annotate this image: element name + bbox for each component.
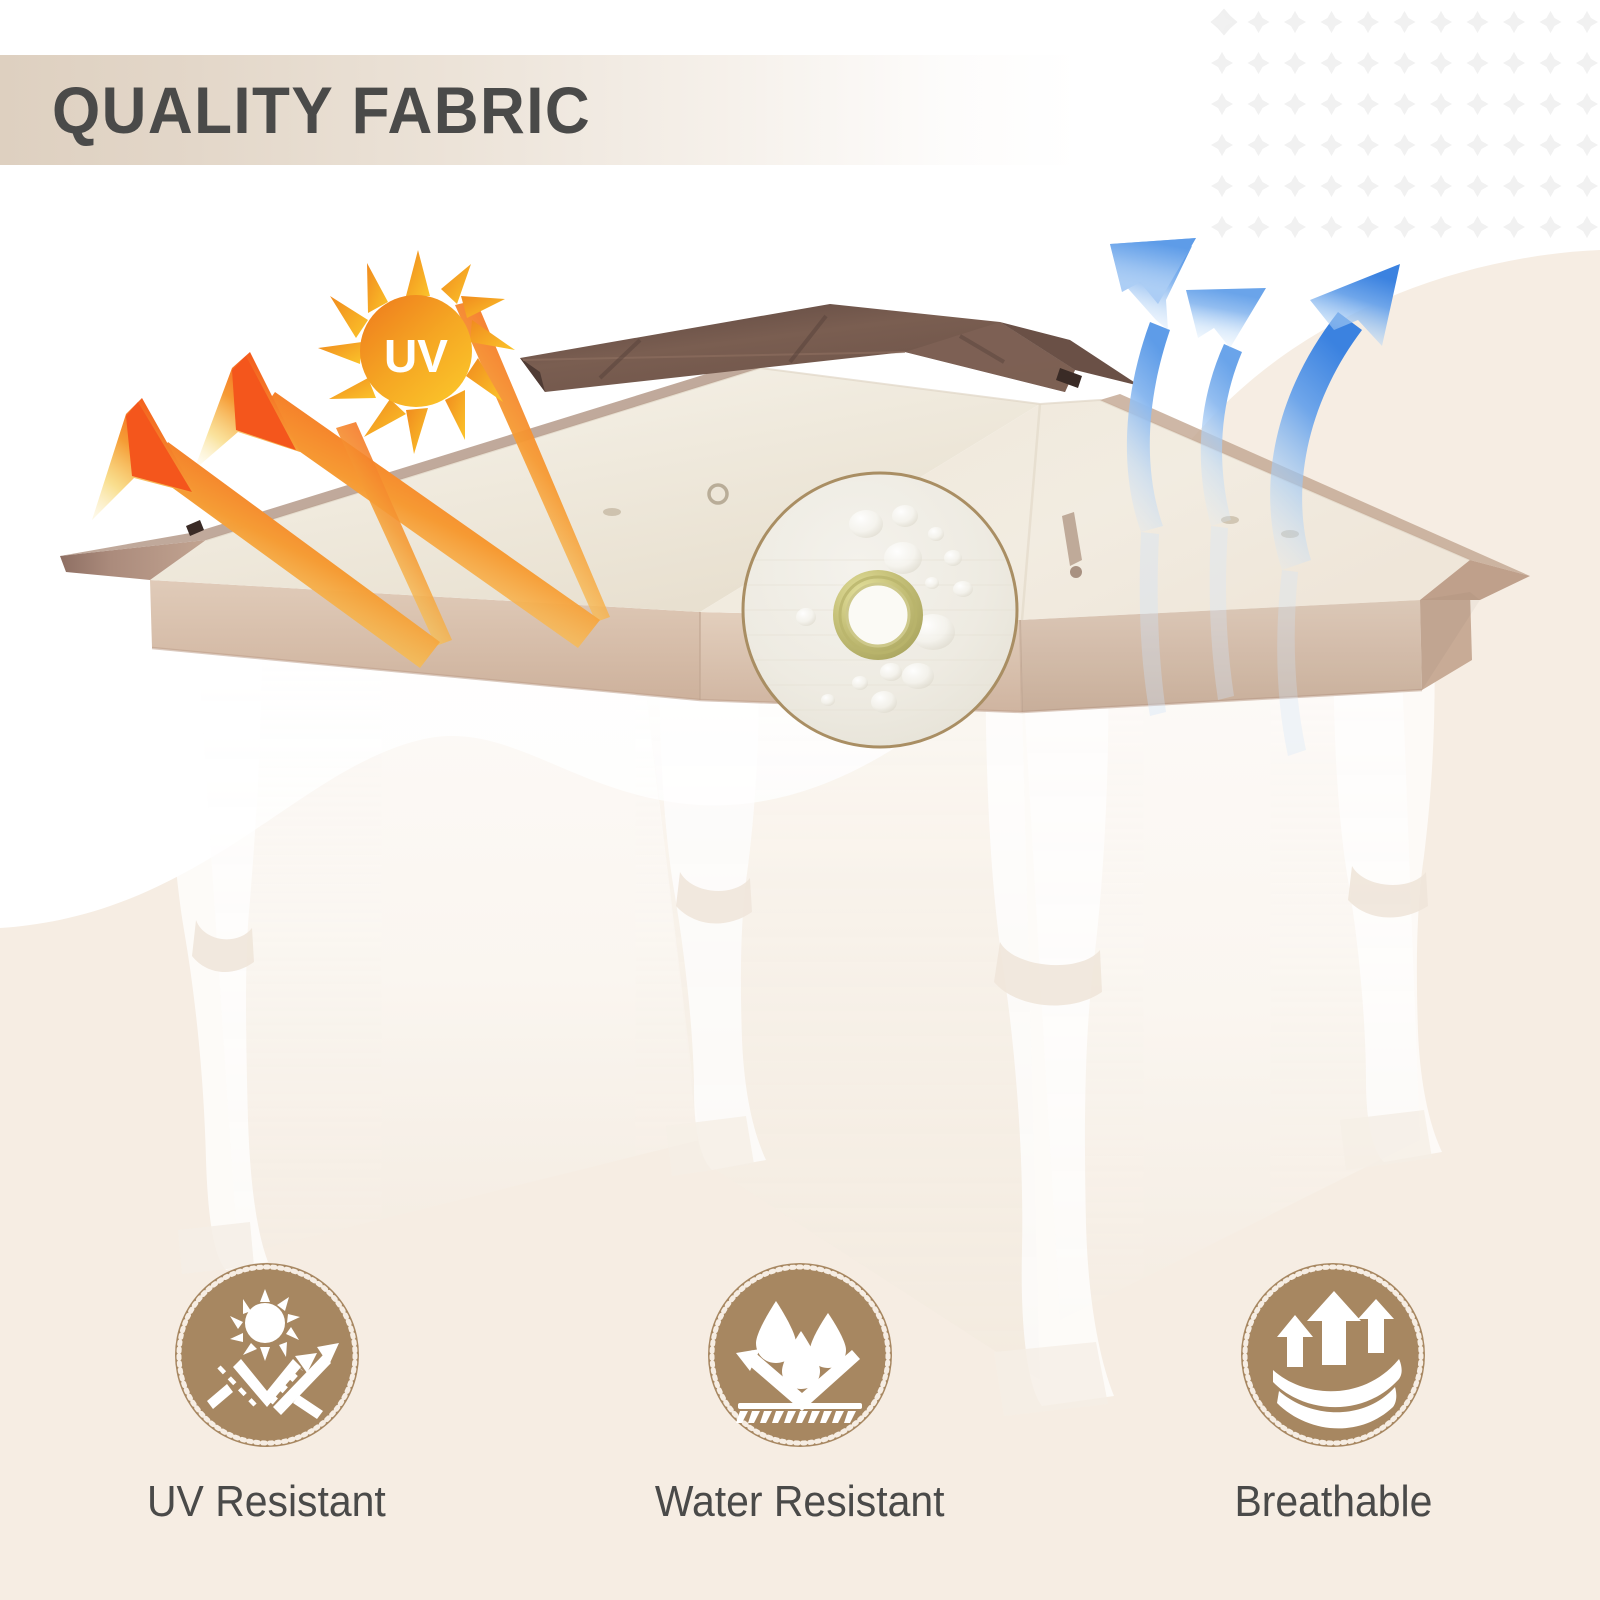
fabric-grommet — [833, 570, 923, 660]
feature-water-resistant: Water Resistant — [533, 1255, 1066, 1555]
uv-resistant-badge — [167, 1255, 367, 1455]
feature-list: UV Resistant — [0, 1255, 1600, 1555]
feature-uv-resistant: UV Resistant — [0, 1255, 533, 1555]
feature-label-water-resistant: Water Resistant — [655, 1477, 945, 1527]
breathable-badge — [1233, 1255, 1433, 1455]
feature-label-breathable: Breathable — [1234, 1477, 1432, 1527]
feature-breathable: Breathable — [1067, 1255, 1600, 1555]
title-banner: QUALITY FABRIC — [0, 55, 1080, 165]
feature-label-uv-resistant: UV Resistant — [147, 1477, 386, 1527]
infographic-canvas: UV — [0, 0, 1600, 1600]
page-title: QUALITY FABRIC — [52, 72, 591, 148]
water-resistant-badge — [700, 1255, 900, 1455]
